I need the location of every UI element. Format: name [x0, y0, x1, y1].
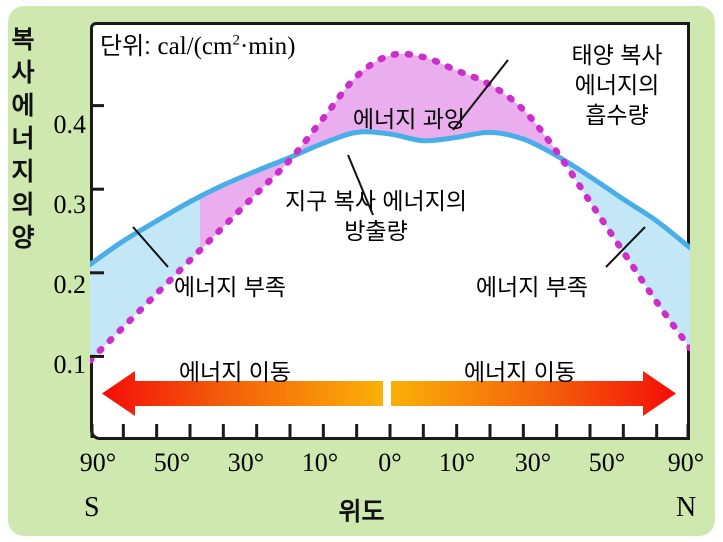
y-tick-label: 0.1 — [30, 350, 86, 380]
y-tick-label: 0.2 — [30, 270, 86, 300]
unit-value-pre: cal/(cm — [158, 33, 233, 60]
annotation-deficit-left: 에너지 부족 — [150, 272, 310, 302]
annotation-solar-absorption: 태양 복사 에너지의 흡수량 — [527, 40, 707, 130]
unit-value-post: ·min) — [240, 33, 296, 60]
annotation-transfer-left: 에너지 이동 — [155, 357, 315, 387]
x-tick-label: 90° — [80, 448, 116, 478]
x-tick-label: 90° — [668, 448, 704, 478]
y-tick-label: 0.3 — [30, 190, 86, 220]
annotation-earth-emission: 지구 복사 에너지의 방출량 — [236, 186, 516, 246]
unit-prefix: 단위: — [100, 33, 158, 60]
annotation-surplus: 에너지 과잉 — [304, 104, 514, 134]
annotation-deficit-right: 에너지 부족 — [452, 272, 612, 302]
y-axis-title-char: 복 — [6, 24, 40, 57]
x-tick-label: 30° — [228, 448, 264, 478]
figure-root: 복사에너지의양 0.40.30.20.1 — [0, 0, 723, 542]
x-tick-label: 50° — [154, 448, 190, 478]
y-tick-label: 0.4 — [30, 110, 86, 140]
x-tick-label: 0° — [378, 448, 401, 478]
y-axis-title-char: 양 — [6, 222, 40, 255]
annotation-transfer-right: 에너지 이동 — [440, 357, 600, 387]
y-axis-title-char: 지 — [6, 156, 40, 189]
x-tick-label: 30° — [515, 448, 551, 478]
y-axis-title-char: 사 — [6, 57, 40, 90]
unit-superscript: 2 — [232, 33, 240, 49]
unit-note: 단위: cal/(cm2·min) — [100, 26, 296, 61]
x-tick-label: 50° — [589, 448, 625, 478]
x-tick-label: 10° — [302, 448, 338, 478]
x-tick-label: 10° — [439, 448, 475, 478]
x-axis-title: 위도 — [0, 492, 723, 528]
